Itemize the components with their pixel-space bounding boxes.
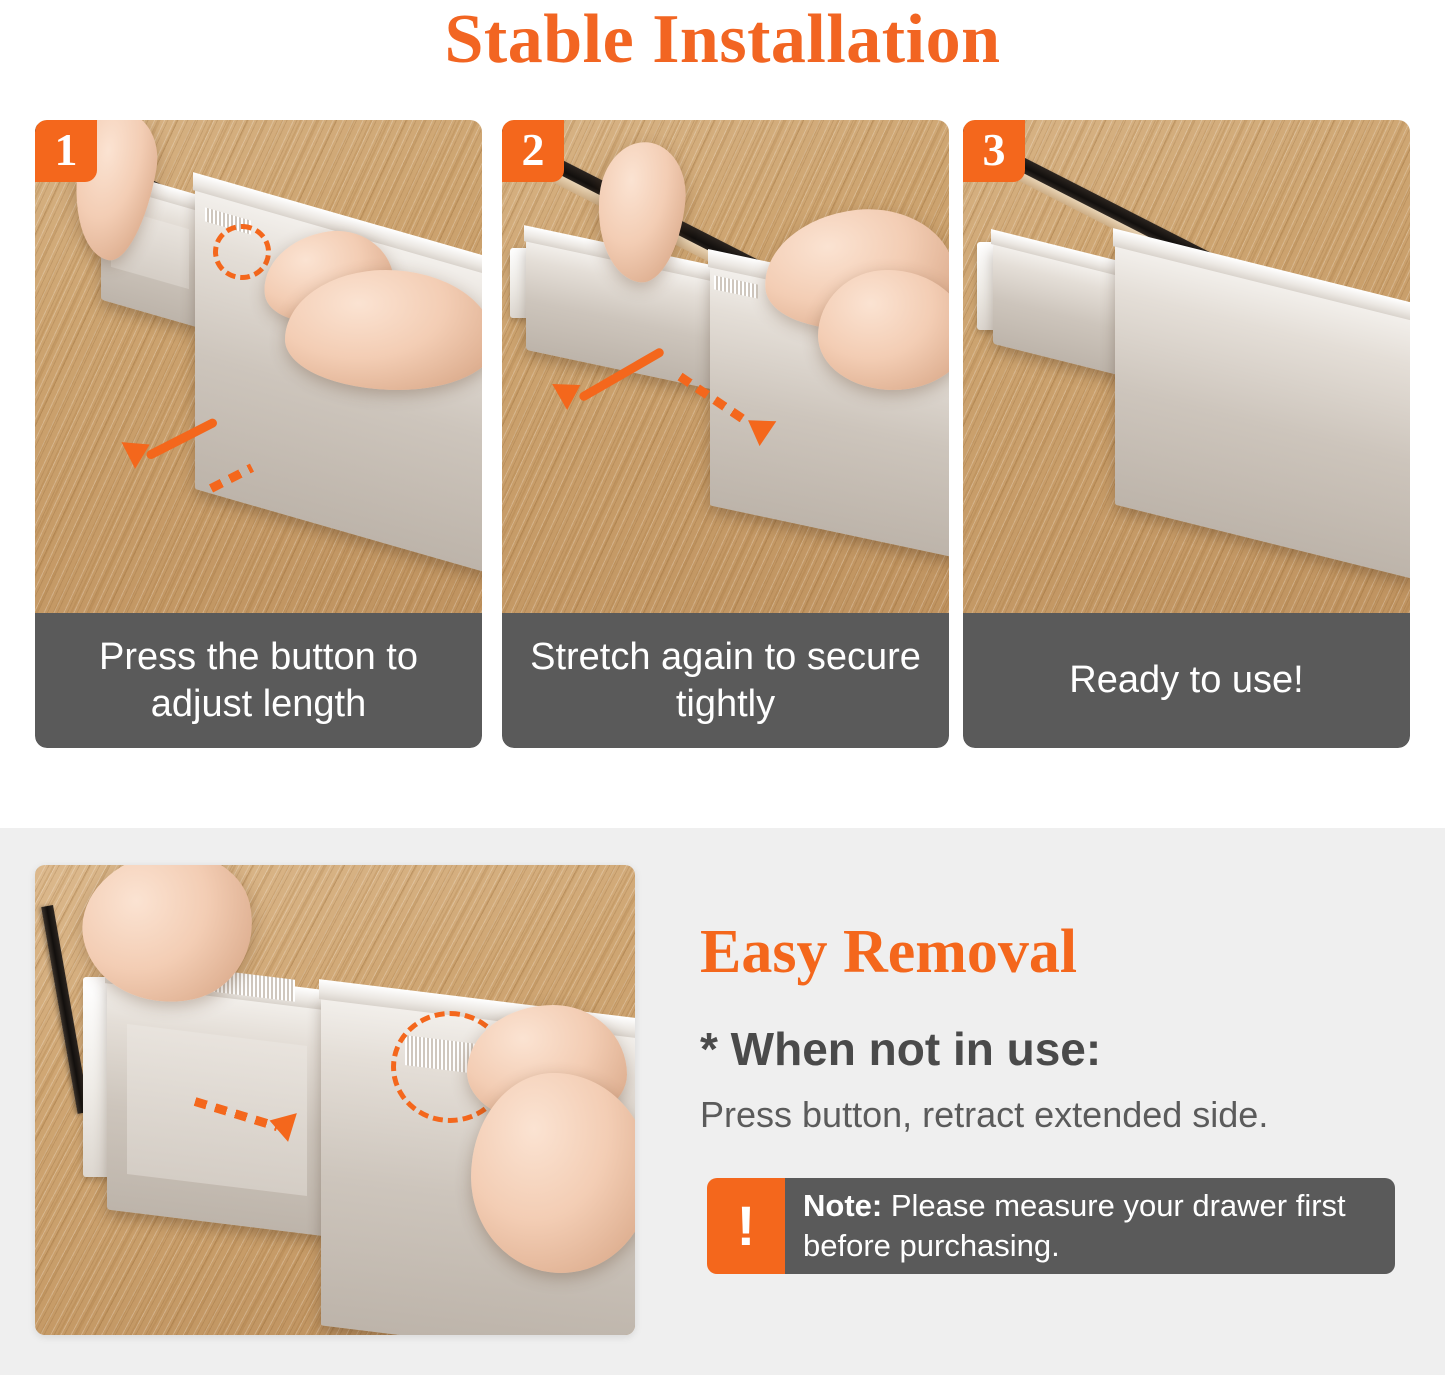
page-title: Stable Installation	[0, 2, 1445, 80]
step-panel-1: 1 Press the button to adjust length	[35, 120, 482, 748]
step-2-photo	[502, 120, 949, 613]
hand-gripping-divider	[471, 1073, 635, 1273]
note-body: Please measure your drawer first before …	[803, 1188, 1346, 1263]
easy-removal-photo	[35, 865, 635, 1335]
step-badge-3: 3	[963, 120, 1025, 182]
easy-removal-title: Easy Removal	[700, 918, 1077, 986]
step-panel-3: 3 Ready to use!	[963, 120, 1410, 748]
hand-knuckles	[818, 270, 949, 390]
step-3-photo	[963, 120, 1410, 613]
easy-removal-section: Easy Removal * When not in use: Press bu…	[0, 828, 1445, 1375]
step-caption-2: Stretch again to secure tightly	[502, 613, 949, 748]
note-label: Note:	[803, 1188, 882, 1223]
note-callout: ! Note: Please measure your drawer first…	[707, 1178, 1395, 1274]
when-not-in-use-heading: * When not in use:	[700, 1022, 1101, 1076]
when-not-in-use-description: Press button, retract extended side.	[700, 1093, 1268, 1137]
step-badge-1: 1	[35, 120, 97, 182]
stable-installation-section: Stable Installation	[0, 0, 1445, 828]
note-text: Note: Please measure your drawer first b…	[785, 1178, 1395, 1274]
step-panel-2: 2 Stretch again to secure tightly	[502, 120, 949, 748]
step-badge-2: 2	[502, 120, 564, 182]
step-caption-1: Press the button to adjust length	[35, 613, 482, 748]
step-1-photo	[35, 120, 482, 613]
release-button-highlight-icon	[213, 224, 271, 280]
step-caption-3: Ready to use!	[963, 613, 1410, 748]
exclamation-icon: !	[707, 1178, 785, 1274]
